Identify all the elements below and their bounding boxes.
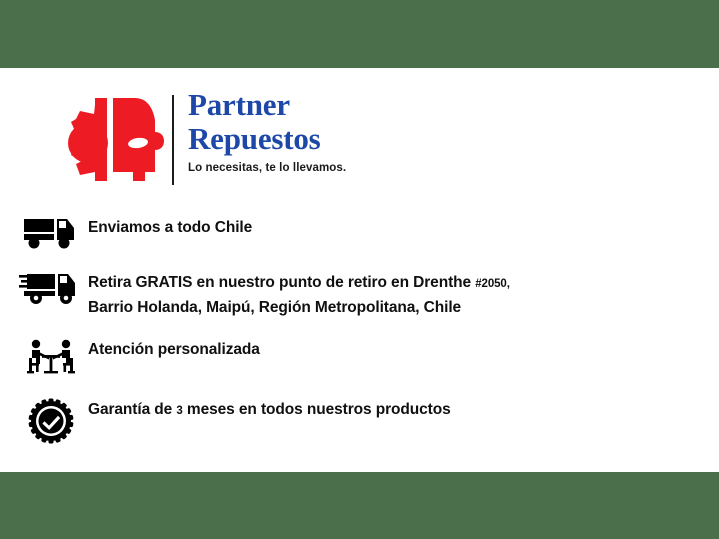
gear-car-icon [55, 92, 170, 187]
feature-label-support: Atención personalizada [88, 338, 260, 361]
brand-logo-block: Partner Repuestos Lo necesitas, te lo ll… [55, 92, 535, 192]
fast-delivery-truck-icon [14, 270, 88, 306]
bottom-green-band [0, 472, 719, 539]
promo-banner: Partner Repuestos Lo necesitas, te lo ll… [0, 0, 719, 539]
feature-row-shipping: Enviamos a todo Chile [14, 216, 252, 250]
warranty-text-a: Garantía de [88, 401, 176, 418]
brand-tagline: Lo necesitas, te lo llevamos. [188, 162, 528, 174]
pickup-line1-main: Retira GRATIS en nuestro punto de retiro… [88, 274, 475, 291]
pickup-street-number: #2050, [475, 278, 510, 290]
feature-row-warranty: Garantía de 3 meses en todos nuestros pr… [14, 398, 451, 444]
feature-label-shipping: Enviamos a todo Chile [88, 216, 252, 239]
feature-label-pickup: Retira GRATIS en nuestro punto de retiro… [88, 270, 510, 319]
warranty-text-b: meses en todos nuestros productos [183, 401, 451, 418]
people-at-table-icon [14, 338, 88, 380]
delivery-truck-icon [14, 216, 88, 250]
logo-divider [172, 95, 174, 185]
feature-label-warranty: Garantía de 3 meses en todos nuestros pr… [88, 398, 451, 422]
feature-row-support: Atención personalizada [14, 338, 260, 380]
pickup-line2: Barrio Holanda, Maipú, Región Metropolit… [88, 299, 461, 316]
feature-row-pickup: Retira GRATIS en nuestro punto de retiro… [14, 270, 510, 319]
brand-text: Partner Repuestos Lo necesitas, te lo ll… [188, 88, 528, 174]
brand-name-line2: Repuestos [188, 122, 528, 156]
verified-badge-icon [14, 398, 88, 444]
brand-name-line1: Partner [188, 88, 528, 122]
top-green-band [0, 0, 719, 68]
